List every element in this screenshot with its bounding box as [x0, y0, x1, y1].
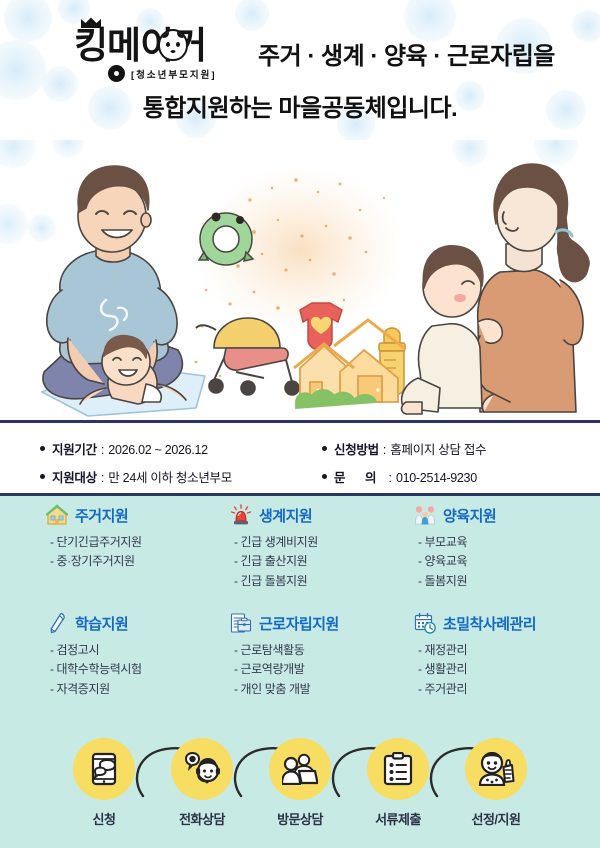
- service-item: - 중·장기주거지원: [50, 552, 208, 571]
- process-label: 전화상담: [179, 809, 225, 828]
- logo-dot: [108, 65, 125, 82]
- smartphone-chat-icon: [87, 752, 121, 786]
- service-item: - 자격증지원: [50, 680, 208, 699]
- process-circle: [73, 738, 135, 800]
- process-flow-section: 신청: [0, 732, 600, 848]
- house-support-icon: [46, 504, 68, 526]
- info-label: 문 의: [334, 467, 384, 486]
- service-item: - 개인 맞춤 개발: [234, 680, 392, 699]
- info-value: 2026.02 ~ 2026.12: [108, 443, 208, 457]
- service-item: - 긴급 돌봄지원: [234, 572, 392, 591]
- info-row: 지원대상 : 만 24세 이하 청소년부모: [40, 467, 232, 486]
- illustration-section: [0, 140, 600, 420]
- rattle-toy-icon: [199, 213, 253, 266]
- service-card-childcare: 양육지원 - 부모교육 - 양육교육 - 돌봄지원: [392, 504, 576, 612]
- info-value: 만 24세 이하 청소년부모: [108, 467, 232, 486]
- service-item: - 근로역량개발: [234, 660, 392, 679]
- process-step-visit-consult: 방문상담: [265, 738, 335, 828]
- info-column-left: 지원기간 : 2026.02 ~ 2026.12 지원대상 : 만 24세 이하…: [40, 439, 232, 495]
- service-item: - 돌봄지원: [418, 572, 576, 591]
- process-label: 서류제출: [375, 809, 421, 828]
- service-item-list: - 부모교육 - 양육교육 - 돌봄지원: [414, 533, 576, 591]
- process-step-apply: 신청: [69, 738, 139, 828]
- info-label: 지원대상: [52, 467, 97, 486]
- process-step-phone-consult: 전화상담: [167, 738, 237, 828]
- info-column-right: 신청방법 : 홈페이지 상담 접수 문 의 : 010-2514-9230: [322, 439, 486, 495]
- headset-agent-icon: [184, 752, 220, 786]
- info-label: 지원기간: [52, 439, 97, 458]
- headline-primary: 주거 · 생계 · 양육 · 근로자립을: [258, 36, 555, 71]
- info-separator: :: [388, 471, 391, 485]
- service-title: 생계지원: [259, 505, 312, 526]
- service-card-case-management: 초밀착사례관리 - 재정관리 - 생활관리 - 주거관리: [392, 612, 576, 720]
- family-illustration: [0, 140, 600, 420]
- crown-icon: [80, 17, 102, 29]
- service-item: - 긴급 생계비지원: [234, 533, 392, 552]
- services-section: 주거지원 - 단기긴급주거지원 - 중·장기주거지원: [0, 496, 600, 732]
- calendar-clock-icon: [414, 612, 436, 634]
- service-card-living: 생계지원 - 긴급 생계비지원 - 긴급 출산지원 - 긴급 돌봄지원: [208, 504, 392, 612]
- process-circle: [171, 738, 233, 800]
- visit-consult-icon: [282, 753, 318, 785]
- process-circle: [465, 738, 527, 800]
- service-item-list: - 단기긴급주거지원 - 중·장기주거지원: [46, 533, 208, 572]
- mascot-face-icon: [158, 29, 188, 61]
- process-circle: [269, 738, 331, 800]
- service-item-list: - 재정관리 - 생활관리 - 주거관리: [414, 641, 576, 699]
- brand-logo: 킹메이커 [청소년부모지원]: [74, 27, 260, 83]
- service-title: 근로자립지원: [259, 613, 339, 634]
- process-step-selection-support: 선정/지원: [461, 738, 531, 828]
- brand-subtitle: [청소년부모지원]: [131, 67, 217, 81]
- service-card-employment: 근로자립지원 - 근로탐색활동 - 근로역량개발 - 개인 맞춤 개발: [208, 612, 392, 720]
- service-card-education: 학습지원 - 검정고시 - 대학수학능력시험 - 자격증지원: [24, 612, 208, 720]
- header-section: 킹메이커 [청소년부모지원] 주거 · 생계 · 양육 · 근로자립을 통합지원…: [0, 0, 600, 140]
- process-circle: [367, 738, 429, 800]
- service-title: 주거지원: [75, 505, 128, 526]
- service-item-list: - 근로탐색활동 - 근로역량개발 - 개인 맞춤 개발: [230, 641, 392, 699]
- service-item: - 근로탐색활동: [234, 641, 392, 660]
- info-separator: :: [101, 471, 104, 485]
- info-value: 홈페이지 상담 접수: [390, 439, 486, 458]
- pencil-icon: [46, 612, 68, 634]
- service-item-list: - 긴급 생계비지원 - 긴급 출산지원 - 긴급 돌봄지원: [230, 533, 392, 591]
- info-separator: :: [101, 443, 104, 457]
- bullet-icon: [322, 474, 327, 479]
- info-row: 지원기간 : 2026.02 ~ 2026.12: [40, 439, 232, 458]
- service-item: - 대학수학능력시험: [50, 660, 208, 679]
- service-item: - 검정고시: [50, 641, 208, 660]
- info-label: 신청방법: [334, 439, 379, 458]
- service-item: - 단기긴급주거지원: [50, 533, 208, 552]
- service-title: 학습지원: [75, 613, 128, 634]
- bullet-icon: [322, 446, 327, 451]
- service-title: 양육지원: [443, 505, 496, 526]
- process-label: 신청: [93, 809, 116, 828]
- service-item: - 양육교육: [418, 552, 576, 571]
- service-item: - 생활관리: [418, 660, 576, 679]
- service-item-list: - 검정고시 - 대학수학능력시험 - 자격증지원: [46, 641, 208, 699]
- siren-icon: [230, 504, 252, 526]
- process-step-submit-documents: 서류제출: [363, 738, 433, 828]
- bullet-icon: [40, 446, 45, 451]
- info-row: 신청방법 : 홈페이지 상담 접수: [322, 439, 486, 458]
- service-item: - 부모교육: [418, 533, 576, 552]
- documents-icon: [230, 612, 252, 634]
- family-icon: [414, 504, 436, 526]
- process-label: 선정/지원: [472, 809, 521, 828]
- service-item: - 주거관리: [418, 680, 576, 699]
- info-row: 문 의 : 010-2514-9230: [322, 467, 486, 486]
- service-item: - 긴급 출산지원: [234, 552, 392, 571]
- baby-selected-icon: [477, 752, 515, 786]
- service-title: 초밀착사례관리: [443, 613, 536, 634]
- info-band: 지원기간 : 2026.02 ~ 2026.12 지원대상 : 만 24세 이하…: [0, 420, 600, 496]
- poster-root: 킹메이커 [청소년부모지원] 주거 · 생계 · 양육 · 근로자립을 통합지원…: [0, 0, 600, 848]
- info-separator: :: [383, 443, 386, 457]
- clipboard-icon: [383, 752, 413, 786]
- process-label: 방문상담: [277, 809, 323, 828]
- service-item: - 재정관리: [418, 641, 576, 660]
- service-card-housing: 주거지원 - 단기긴급주거지원 - 중·장기주거지원: [24, 504, 208, 612]
- contact-phone: 010-2514-9230: [396, 471, 477, 485]
- bullet-icon: [40, 474, 45, 479]
- headline-secondary: 통합지원하는 마을공동체입니다.: [0, 88, 600, 123]
